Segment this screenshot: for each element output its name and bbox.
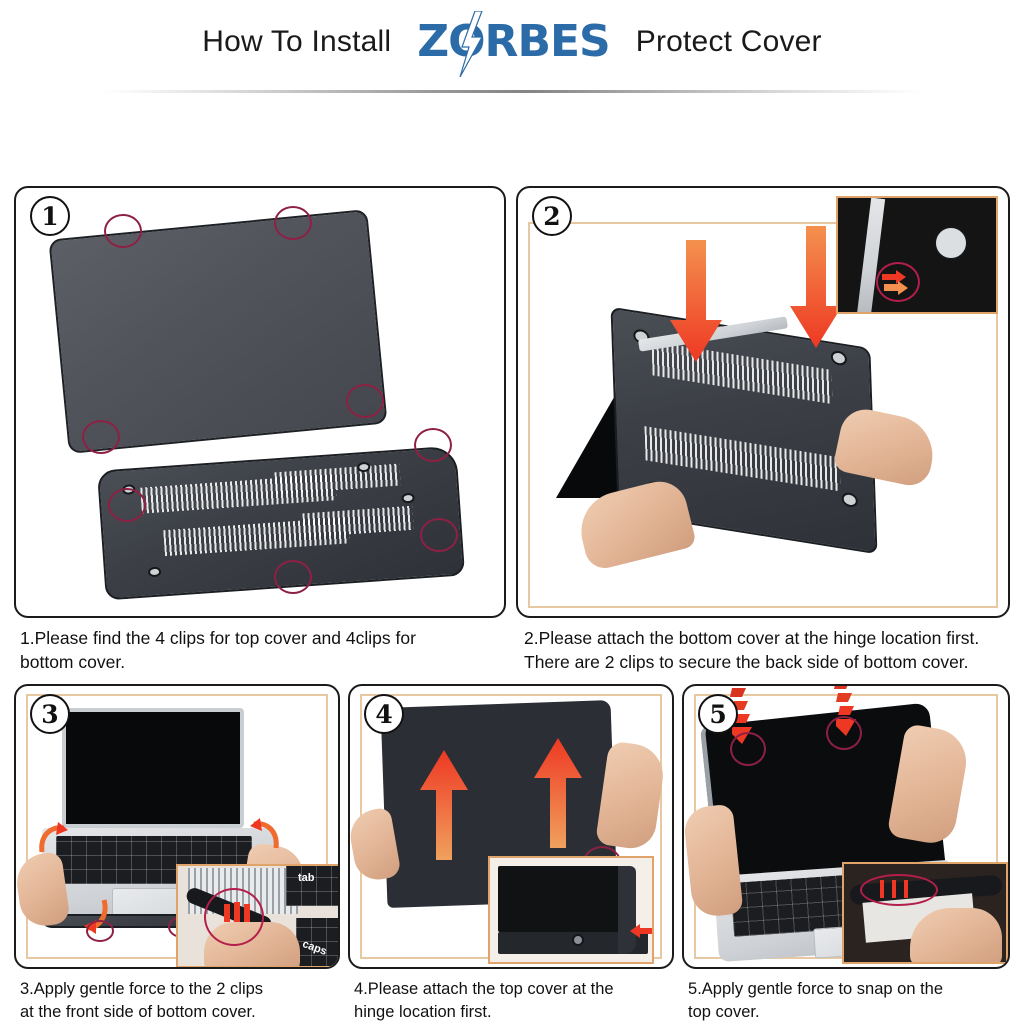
steps-row-bottom: 3 (0, 684, 1024, 1023)
header-divider-wrap (0, 78, 1024, 104)
step-3-caption: 3.Apply gentle force to the 2 clips at t… (14, 969, 340, 1023)
step-5-panel: 5 (682, 684, 1010, 969)
step-2-panel: 2 (516, 186, 1010, 618)
step-1: 1 (14, 186, 506, 674)
zorbes-logo: ZORBES (417, 20, 609, 64)
page-header: How To Install ZORBES Protect Cover (0, 0, 1024, 78)
step-2-illustration (518, 188, 1008, 616)
steps-row-top: 1 (0, 186, 1024, 674)
logo-wordmark: ZORBES (417, 16, 609, 67)
step-1-panel: 1 (14, 186, 506, 618)
step-1-illustration (16, 188, 504, 616)
inset-clip-arrows-icon (878, 878, 920, 900)
inset-left-arrow-icon (630, 924, 654, 938)
step-3-badge: 3 (30, 694, 70, 734)
up-arrow-left-icon (418, 750, 470, 862)
header-prefix: How To Install (202, 25, 391, 59)
rubber-foot (842, 492, 858, 509)
curved-arrow-top-right-icon (250, 818, 280, 850)
inset-clip-arrows-icon (222, 900, 252, 922)
step-3-inset: tab caps (176, 864, 340, 968)
clip-highlight (346, 384, 384, 418)
clip-highlight (86, 920, 114, 942)
step-4-badge: 4 (364, 694, 404, 734)
inset-rubber-foot (934, 226, 968, 260)
header-suffix: Protect Cover (636, 25, 822, 59)
step-5-badge: 5 (698, 694, 738, 734)
inset-clip-arrows-icon (882, 270, 916, 296)
step-5-inset (842, 862, 1008, 964)
step-4: 4 (348, 684, 674, 1023)
inset-screen (498, 866, 630, 932)
clip-highlight (414, 428, 452, 462)
step-3-illustration: tab caps (16, 686, 338, 967)
step-5-caption: 5.Apply gentle force to snap on the top … (682, 969, 1010, 1023)
step-4-illustration (350, 686, 672, 967)
step-2-caption: 2.Please attach the bottom cover at the … (516, 618, 1010, 674)
curved-arrow-top-left-icon (38, 822, 68, 854)
clip-highlight (274, 560, 312, 594)
clip-highlight (82, 420, 120, 454)
step-1-badge: 1 (30, 196, 70, 236)
top-cover-art (48, 209, 387, 454)
vent-slots (302, 506, 413, 538)
step-3: 3 (14, 684, 340, 1023)
inset-key-label-tab: tab (298, 872, 315, 884)
up-arrow-right-icon (532, 738, 584, 850)
step-3-panel: 3 (14, 684, 340, 969)
rubber-foot (831, 350, 847, 367)
hand-left (14, 851, 71, 929)
step-1-caption: 1.Please find the 4 clips for top cover … (14, 618, 506, 674)
clip-highlight (104, 214, 142, 248)
step-4-inset (488, 856, 654, 964)
down-arrow-left-icon (666, 240, 726, 365)
clip-highlight (108, 488, 146, 522)
vent-slots (274, 464, 400, 495)
step-4-caption: 4.Please attach the top cover at the hin… (348, 969, 674, 1023)
clip-highlight (274, 206, 312, 240)
rubber-foot (148, 566, 162, 577)
step-5-illustration (684, 686, 1008, 967)
laptop-screen (62, 708, 244, 828)
header-divider (102, 90, 922, 93)
inset-thumb (910, 908, 1002, 964)
clip-highlight (420, 518, 458, 552)
step-5: 5 (682, 684, 1010, 1023)
step-2-inset (836, 196, 998, 314)
inset-cover-corner (618, 866, 636, 954)
step-2: 2 (516, 186, 1010, 674)
instruction-sheet: 1 (0, 186, 1024, 1023)
step-4-panel: 4 (348, 684, 674, 969)
step-2-badge: 2 (532, 196, 572, 236)
vent-slots (644, 426, 840, 491)
rubber-foot (401, 493, 415, 504)
